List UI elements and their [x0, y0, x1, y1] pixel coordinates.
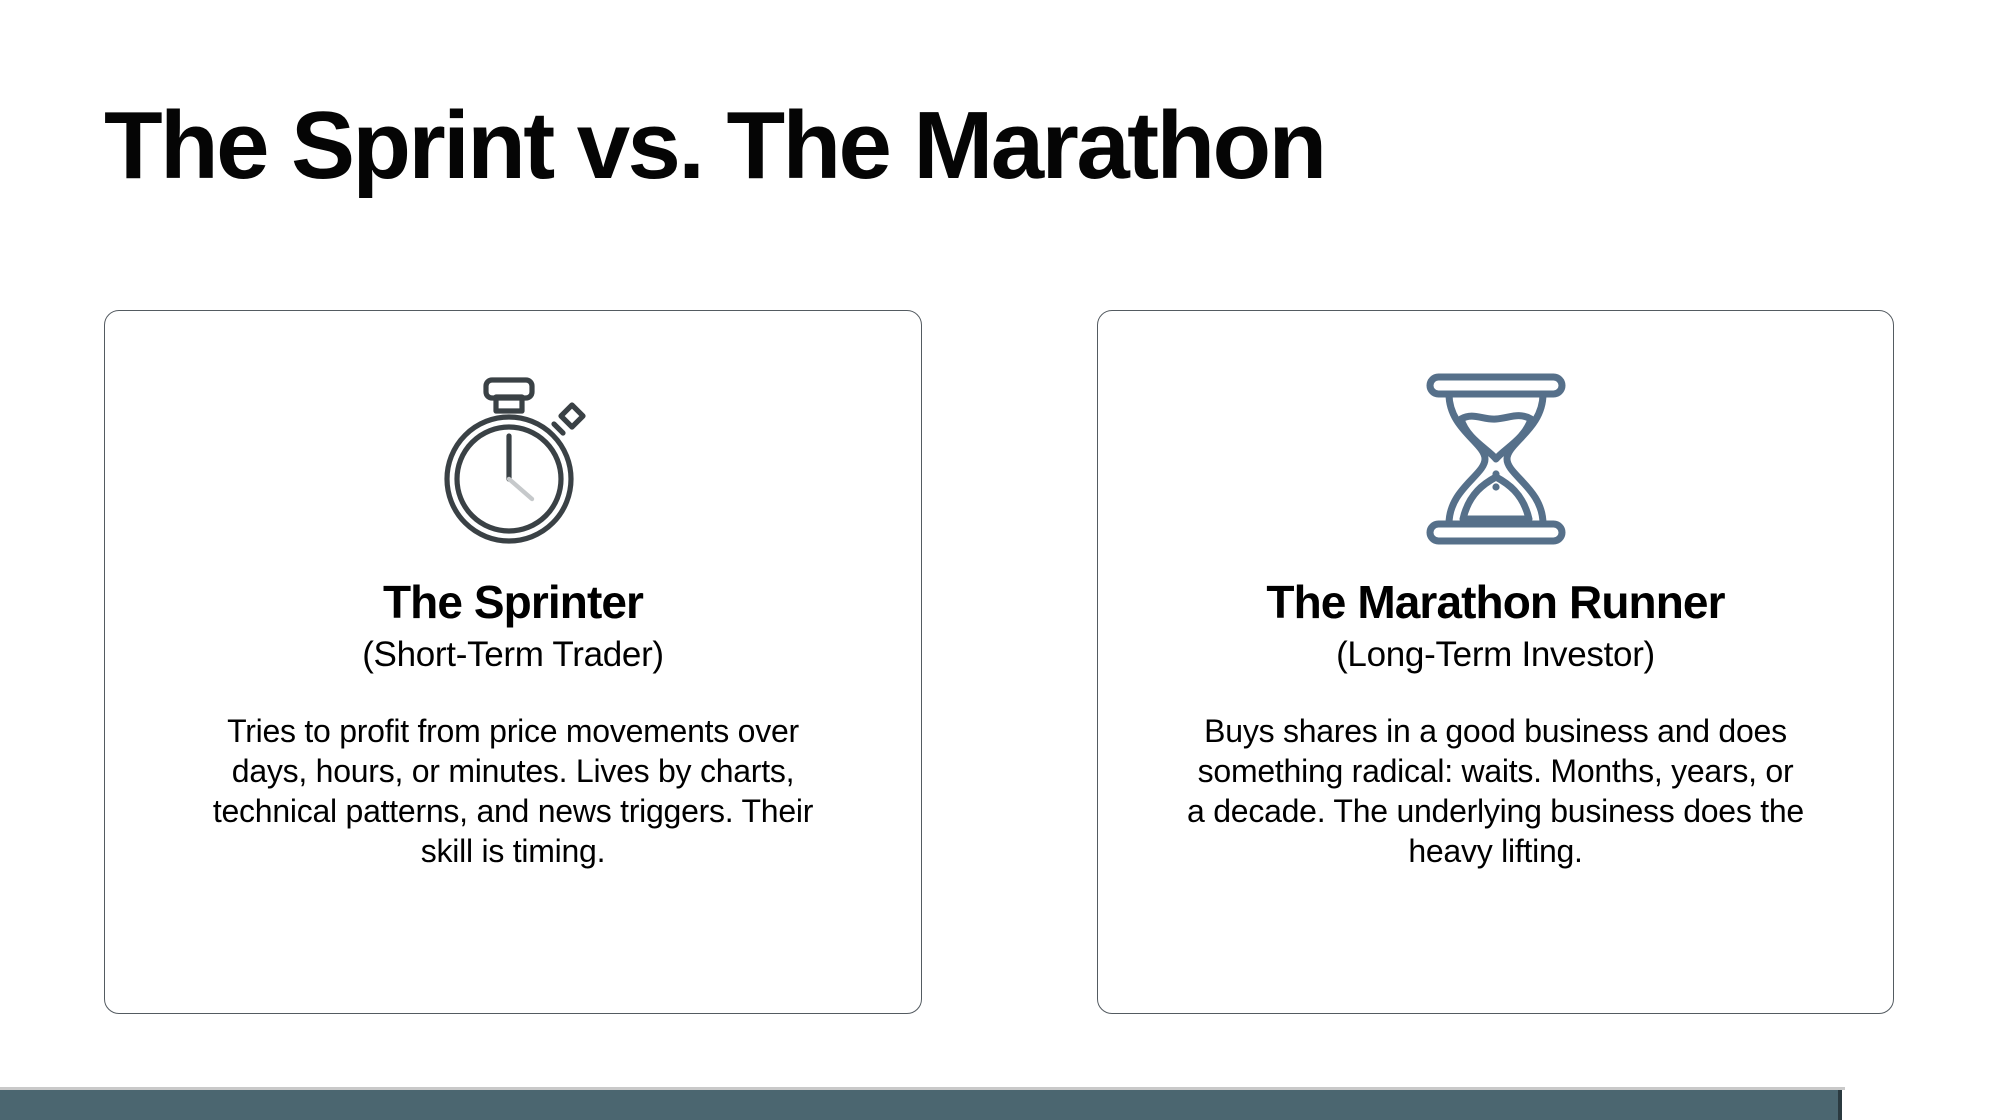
card-body-marathon-runner: Buys shares in a good business and does … — [1186, 711, 1806, 871]
hourglass-icon — [1421, 371, 1571, 547]
page-title: The Sprint vs. The Marathon — [104, 94, 1884, 198]
card-heading-marathon-runner: The Marathon Runner — [1266, 575, 1724, 629]
stopwatch-icon — [424, 368, 602, 550]
footer-accent-band-cap — [1838, 1090, 1842, 1120]
sprinter-icon-container — [424, 359, 602, 559]
card-subheading-marathon-runner: (Long-Term Investor) — [1336, 633, 1655, 677]
slide-canvas: The Sprint vs. The Marathon — [0, 0, 1999, 1120]
card-heading-sprinter: The Sprinter — [383, 575, 643, 629]
card-sprinter[interactable]: The Sprinter (Short-Term Trader) Tries t… — [104, 310, 922, 1014]
card-subheading-sprinter: (Short-Term Trader) — [362, 633, 664, 677]
comparison-card-row: The Sprinter (Short-Term Trader) Tries t… — [104, 310, 1894, 1014]
card-marathon-runner[interactable]: The Marathon Runner (Long-Term Investor)… — [1097, 310, 1894, 1014]
marathon-icon-container — [1421, 359, 1571, 559]
footer-accent-band — [0, 1090, 1841, 1120]
card-body-sprinter: Tries to profit from price movements ove… — [193, 711, 833, 871]
